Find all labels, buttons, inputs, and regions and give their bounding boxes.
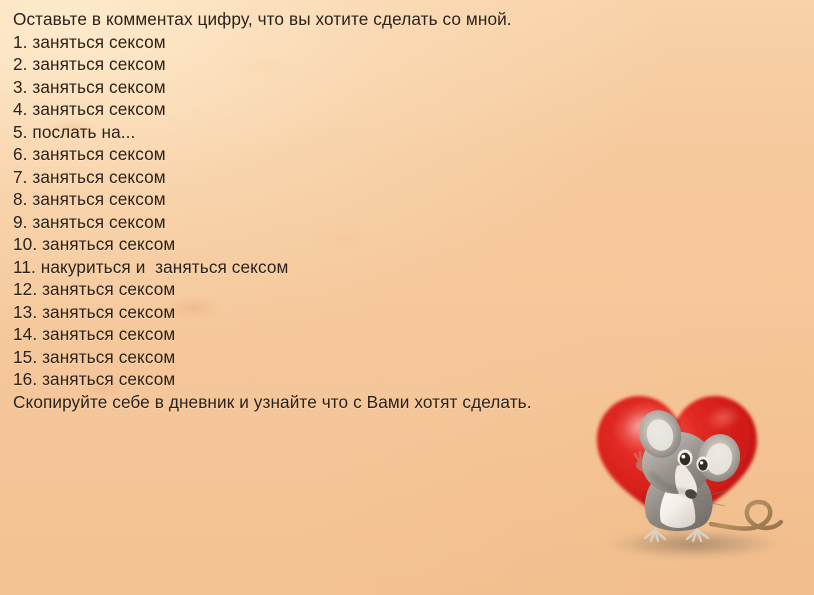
list-item: 1. заняться сексом <box>13 31 573 54</box>
list-item: 15. заняться сексом <box>13 346 573 369</box>
mouse-tail <box>711 502 781 529</box>
list-item: 16. заняться сексом <box>13 368 573 391</box>
list-item: 8. заняться сексом <box>13 188 573 211</box>
list-item: 2. заняться сексом <box>13 53 573 76</box>
footer-line: Скопируйте себе в дневник и узнайте что … <box>13 391 533 414</box>
mouse-with-heart-illustration <box>575 372 814 595</box>
list-item: 7. заняться сексом <box>13 166 573 189</box>
list-item: 11. накуриться и заняться сексом <box>13 256 573 279</box>
list-item: 4. заняться сексом <box>13 98 573 121</box>
list-item: 6. заняться сексом <box>13 143 573 166</box>
list-item: 13. заняться сексом <box>13 301 573 324</box>
list-item: 5. послать на... <box>13 121 573 144</box>
list-item: 14. заняться сексом <box>13 323 573 346</box>
list-item: 10. заняться сексом <box>13 233 573 256</box>
list-item: 12. заняться сексом <box>13 278 573 301</box>
image-canvas: Оставьте в комментах цифру, что вы хотит… <box>0 0 814 595</box>
list-item: 3. заняться сексом <box>13 76 573 99</box>
list-item: 9. заняться сексом <box>13 211 573 234</box>
heading-line: Оставьте в комментах цифру, что вы хотит… <box>13 8 573 31</box>
text-block: Оставьте в комментах цифру, что вы хотит… <box>13 8 573 413</box>
